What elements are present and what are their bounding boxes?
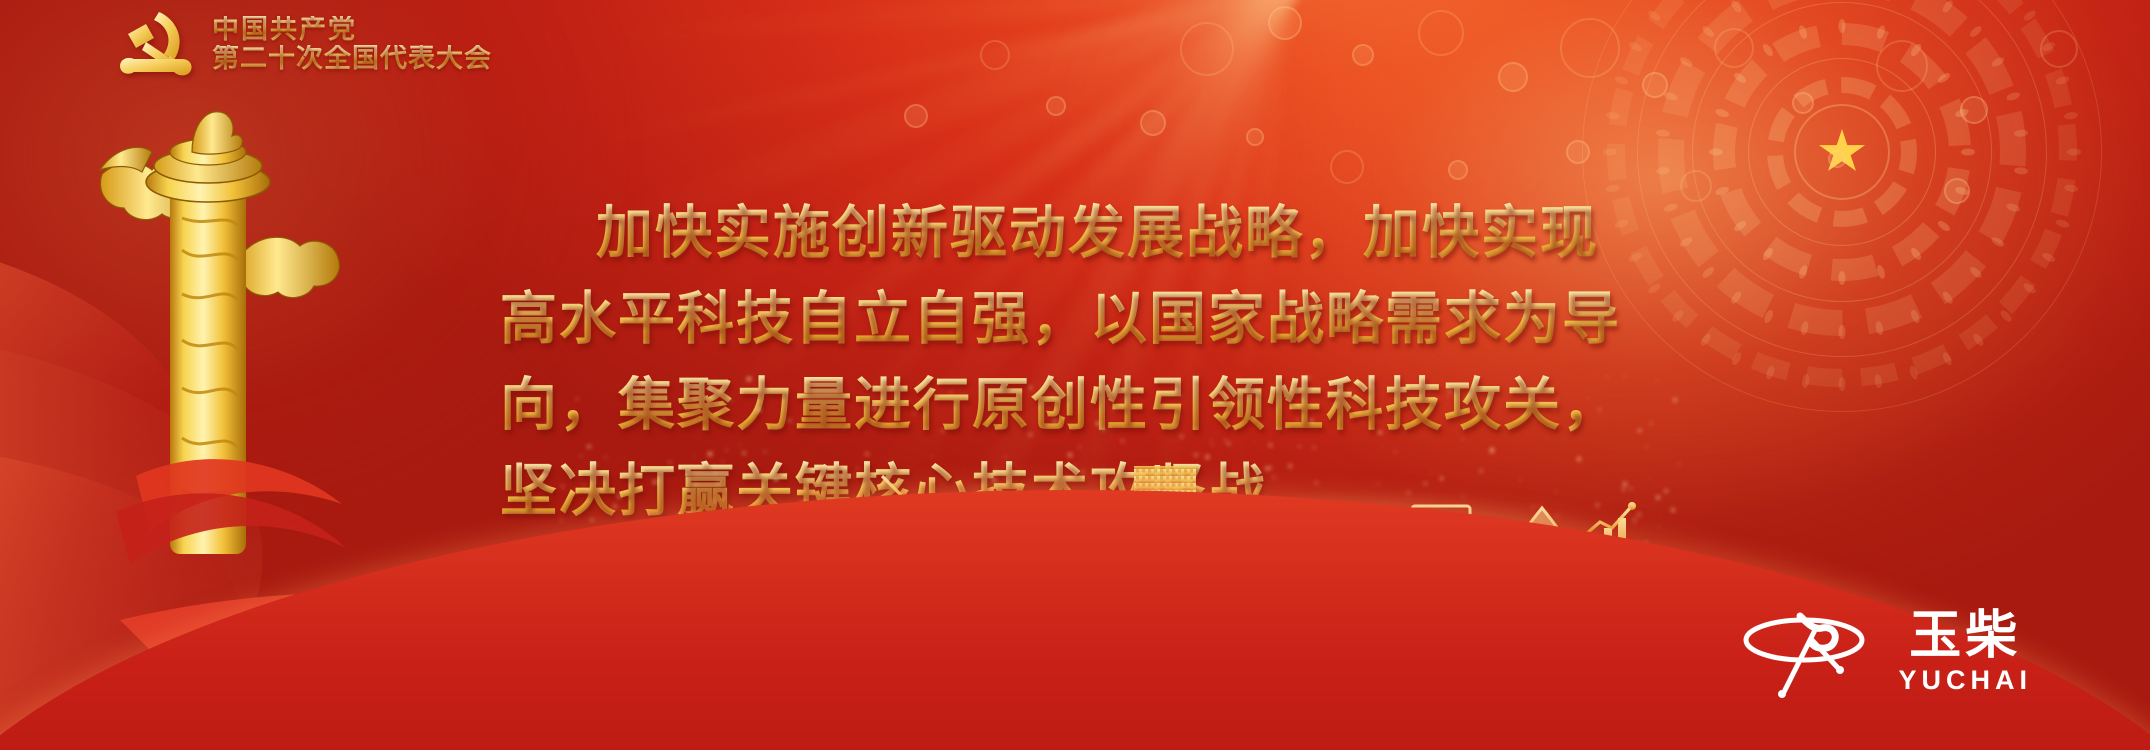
bokeh-circle — [1944, 178, 1970, 204]
gold-particle — [1673, 398, 1677, 402]
mandala-petal — [1839, 325, 1846, 339]
bokeh-circle — [1876, 40, 1928, 92]
gold-particle — [717, 481, 720, 484]
gold-particle — [634, 412, 636, 414]
bokeh-circle — [2040, 30, 2078, 68]
gold-particle — [668, 461, 672, 465]
gold-particle — [1378, 431, 1381, 434]
gold-particle — [950, 391, 952, 393]
gold-particle — [1658, 525, 1660, 527]
bokeh-circle — [1642, 72, 1668, 98]
gold-particle — [1361, 422, 1362, 423]
congress-title-line1: 中国共产党 — [212, 16, 492, 43]
bokeh-circle — [1180, 22, 1234, 76]
gold-particle — [588, 491, 591, 494]
gold-particle — [645, 431, 647, 433]
gold-particle — [1029, 386, 1032, 389]
gold-particle — [853, 475, 855, 477]
bokeh-circle — [1960, 96, 1988, 124]
gold-particle — [1598, 414, 1599, 415]
gold-particle — [632, 494, 634, 496]
gold-particle — [640, 463, 641, 464]
bokeh-circle — [1046, 96, 1066, 116]
gold-particle — [1598, 408, 1601, 411]
bokeh-circle — [1714, 28, 1754, 68]
gold-particle — [1448, 389, 1451, 392]
gold-particle — [1181, 395, 1183, 397]
gold-particle — [575, 469, 576, 470]
gold-particle — [1624, 375, 1626, 377]
gold-particle — [873, 406, 876, 409]
mandala-petal — [1839, 271, 1846, 285]
gold-particle — [1309, 377, 1311, 379]
huabiao-ornamental-column — [96, 108, 346, 578]
gold-particle — [686, 488, 687, 489]
gold-particle — [1121, 439, 1125, 443]
gold-particle — [1553, 407, 1556, 410]
headline-line-1: 加快实施创新驱动发展战略，加快实现 — [500, 190, 1720, 276]
gold-particle — [747, 377, 751, 381]
gold-particle — [1254, 441, 1255, 442]
mandala-petal — [1839, 19, 1846, 33]
gold-particle — [1293, 382, 1294, 383]
yuchai-name-cn: 玉柴 — [1909, 610, 2021, 662]
gold-particle — [769, 483, 770, 484]
gold-particle — [822, 485, 823, 486]
gold-particle — [1649, 422, 1653, 426]
gold-particle — [1216, 401, 1219, 404]
gold-particle — [580, 455, 583, 458]
yuchai-ellipse-mark-icon — [1742, 606, 1882, 698]
gold-particle — [1100, 384, 1102, 386]
gold-particle — [568, 456, 569, 457]
gold-particle — [1224, 439, 1226, 441]
mandala-petal — [1603, 149, 1617, 156]
gold-particle — [1180, 435, 1183, 438]
bokeh-circle — [980, 40, 1010, 70]
gold-particle — [1547, 437, 1548, 438]
gold-particle — [661, 418, 665, 422]
gold-particle — [1656, 380, 1657, 381]
bokeh-circle — [904, 104, 928, 128]
gold-particle — [1659, 515, 1660, 516]
gold-particle — [582, 484, 585, 487]
bokeh-circle — [1560, 18, 1620, 78]
mandala-petal — [2067, 149, 2081, 156]
gold-particle — [1053, 419, 1057, 423]
headline-line-2: 高水平科技自立自强，以国家战略需求为导 — [500, 276, 1720, 362]
gold-particle — [1664, 489, 1668, 493]
gold-particle — [1211, 443, 1214, 446]
gold-particle — [1310, 419, 1313, 422]
bokeh-circle — [1246, 128, 1264, 146]
gold-particle — [1587, 397, 1589, 399]
bokeh-circle — [1330, 150, 1364, 184]
gold-particle — [582, 490, 583, 491]
yuchai-wordmark: 玉柴 YUCHAI — [1898, 610, 2032, 694]
gold-particle — [1227, 442, 1230, 445]
gold-particle — [1652, 452, 1653, 453]
gold-particle — [1671, 508, 1675, 512]
bokeh-circle — [1828, 150, 1846, 168]
bokeh-circle — [1680, 170, 1712, 202]
gold-particle — [1462, 438, 1464, 440]
gold-particle — [1168, 395, 1169, 396]
cpc-hammer-sickle-emblem-icon — [112, 4, 198, 84]
gold-particle — [590, 518, 594, 522]
gold-particle — [694, 484, 696, 486]
bokeh-circle — [1566, 140, 1590, 164]
gold-particle — [913, 412, 916, 415]
gold-particle — [595, 464, 599, 468]
mandala-petal — [1839, 377, 1846, 391]
gold-particle — [693, 455, 695, 457]
gold-particle — [624, 458, 625, 459]
gold-particle — [712, 464, 714, 466]
congress-title-line2: 第二十次全国代表大会 — [212, 45, 492, 72]
bokeh-circle — [1418, 10, 1464, 56]
gold-particle — [639, 447, 640, 448]
gold-particle — [712, 499, 716, 503]
gold-particle — [742, 451, 746, 455]
gold-particle — [888, 436, 889, 437]
gold-particle — [1287, 424, 1289, 426]
gold-particle — [1445, 440, 1447, 442]
gold-particle — [930, 397, 931, 398]
bokeh-circle — [1792, 92, 1814, 114]
gold-particle — [617, 493, 619, 495]
gold-particle — [739, 444, 741, 446]
bokeh-circle — [1268, 6, 1302, 40]
gold-particle — [810, 493, 812, 495]
gold-particle — [1649, 478, 1650, 479]
gold-particle — [1512, 399, 1513, 400]
gold-particle — [573, 490, 576, 493]
gold-particle — [1102, 429, 1104, 431]
gold-particle — [1645, 446, 1648, 449]
gold-particle — [587, 445, 590, 448]
gold-particle — [1305, 377, 1308, 380]
gold-particle — [1606, 376, 1608, 378]
gold-particle — [561, 485, 564, 488]
gold-particle — [624, 472, 627, 475]
bokeh-circle — [1140, 110, 1166, 136]
party-congress-banner: 中国共产党 第二十次全国代表大会 加快实施创新驱动发展战略，加快实现 高水平科技… — [0, 0, 2150, 750]
gold-particle — [726, 449, 728, 451]
bokeh-circle — [1448, 160, 1468, 180]
cpc-emblem-block: 中国共产党 第二十次全国代表大会 — [112, 4, 492, 84]
gold-particle — [1447, 395, 1450, 398]
gold-particle — [1638, 429, 1641, 432]
gold-particle — [708, 452, 712, 456]
gold-particle — [749, 402, 750, 403]
gold-particle — [1279, 430, 1280, 431]
gold-particle — [1259, 423, 1261, 425]
gold-particle — [1349, 388, 1350, 389]
bokeh-circle — [1498, 62, 1528, 92]
gold-particle — [613, 505, 616, 508]
gold-particle — [653, 480, 657, 484]
gold-particle — [689, 463, 690, 464]
gold-particle — [774, 477, 778, 481]
gold-particle — [856, 467, 859, 470]
gold-particle — [652, 442, 653, 443]
gold-particle — [1042, 416, 1043, 417]
gold-particle — [1296, 419, 1299, 422]
gold-particle — [714, 472, 717, 475]
gold-particle — [1269, 443, 1273, 447]
mandala-petal — [1709, 149, 1723, 156]
gold-particle — [986, 424, 989, 427]
gold-particle — [1174, 424, 1177, 427]
gold-particle — [823, 469, 825, 471]
gold-particle — [1029, 433, 1032, 436]
gold-particle — [710, 387, 713, 390]
gold-particle — [576, 398, 578, 400]
yuchai-logo: 玉柴 YUCHAI — [1742, 606, 2032, 698]
gold-particle — [1028, 436, 1030, 438]
gold-particle — [618, 496, 620, 498]
gold-particle — [730, 400, 733, 403]
mandala-petal — [1961, 149, 1975, 156]
gold-particle — [763, 450, 766, 453]
bokeh-circle — [1352, 44, 1374, 66]
gold-particle — [757, 408, 761, 412]
gold-particle — [1113, 409, 1115, 411]
gold-particle — [788, 419, 792, 423]
gold-particle — [1556, 398, 1558, 400]
congress-title: 中国共产党 第二十次全国代表大会 — [212, 16, 492, 72]
gold-particle — [845, 427, 846, 428]
gold-particle — [1649, 488, 1650, 489]
gold-particle — [1210, 438, 1212, 440]
gold-particle — [604, 456, 608, 460]
yuchai-name-en: YUCHAI — [1898, 667, 2032, 694]
gold-particle — [716, 448, 717, 449]
gold-particle — [560, 519, 562, 521]
gold-particle — [941, 429, 944, 432]
gold-particle — [1656, 496, 1659, 499]
gold-particle — [1254, 428, 1255, 429]
gold-particle — [1096, 422, 1100, 426]
gold-particle — [656, 492, 657, 493]
gold-particle — [722, 460, 725, 463]
